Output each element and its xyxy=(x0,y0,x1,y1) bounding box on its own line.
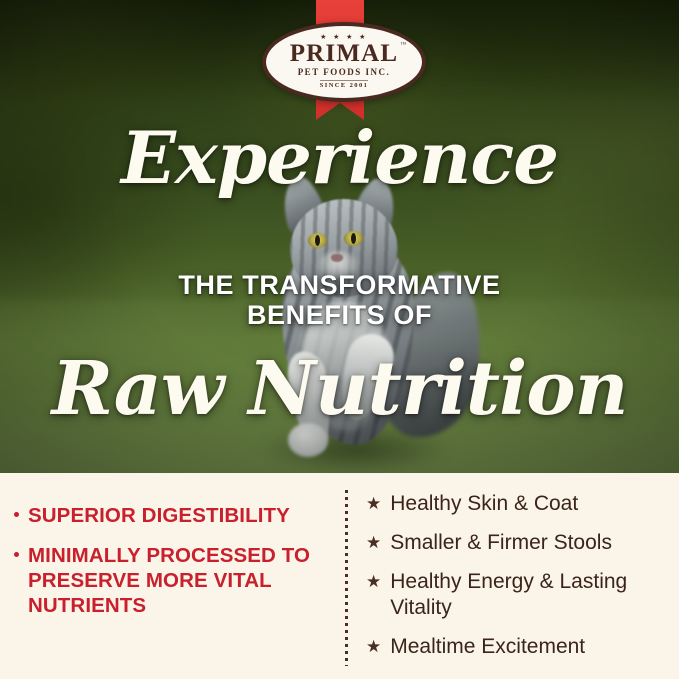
subhead-line-2: BENEFITS OF xyxy=(0,300,679,330)
list-item-label: MINIMALLY PROCESSED TO PRESERVE MORE VIT… xyxy=(28,543,322,618)
star-icon: ★ xyxy=(366,638,381,655)
headline-script-experience: Experience xyxy=(0,122,679,194)
primal-raw-nutrition-ad: Experience THE TRANSFORMATIVE BENEFITS O… xyxy=(0,0,679,679)
benefits-column-left: SUPERIOR DIGESTIBILITY MINIMALLY PROCESS… xyxy=(0,473,340,679)
star-icon: ★ xyxy=(366,495,381,512)
bullet-dot-icon xyxy=(14,512,19,517)
benefits-panel: SUPERIOR DIGESTIBILITY MINIMALLY PROCESS… xyxy=(0,473,679,679)
list-item-label: Healthy Energy & Lasting Vitality xyxy=(390,569,669,619)
primal-logo: ★ ★ ★ ★ PRIMAL ™ PET FOODS INC. SINCE 20… xyxy=(262,22,426,102)
list-item: ★ Mealtime Excitement xyxy=(366,634,669,659)
list-item: ★ Healthy Skin & Coat xyxy=(366,491,669,516)
list-item-label: Healthy Skin & Coat xyxy=(390,491,578,516)
bullet-dot-icon xyxy=(14,552,19,557)
star-icon: ★ xyxy=(366,534,381,551)
trademark-icon: ™ xyxy=(400,42,407,48)
list-item-label: Smaller & Firmer Stools xyxy=(390,530,612,555)
logo-wordmark-text: PRIMAL xyxy=(290,40,399,67)
benefits-column-right: ★ Healthy Skin & Coat ★ Smaller & Firmer… xyxy=(340,473,679,679)
subhead-line-1: THE TRANSFORMATIVE xyxy=(0,270,679,300)
list-item: MINIMALLY PROCESSED TO PRESERVE MORE VIT… xyxy=(14,543,322,618)
list-item: SUPERIOR DIGESTIBILITY xyxy=(14,503,322,528)
list-item-label: SUPERIOR DIGESTIBILITY xyxy=(28,503,290,528)
list-item: ★ Healthy Energy & Lasting Vitality xyxy=(366,569,669,619)
logo-wordmark: PRIMAL ™ xyxy=(290,41,399,66)
headline-script-raw-nutrition: Raw Nutrition xyxy=(0,352,679,426)
headline-subhead: THE TRANSFORMATIVE BENEFITS OF xyxy=(0,270,679,330)
star-icon: ★ xyxy=(366,573,381,590)
logo-since-line: SINCE 2001 xyxy=(320,80,369,90)
list-item-label: Mealtime Excitement xyxy=(390,634,585,659)
column-divider xyxy=(345,490,348,666)
logo-subtitle: PET FOODS INC. xyxy=(298,68,391,77)
list-item: ★ Smaller & Firmer Stools xyxy=(366,530,669,555)
